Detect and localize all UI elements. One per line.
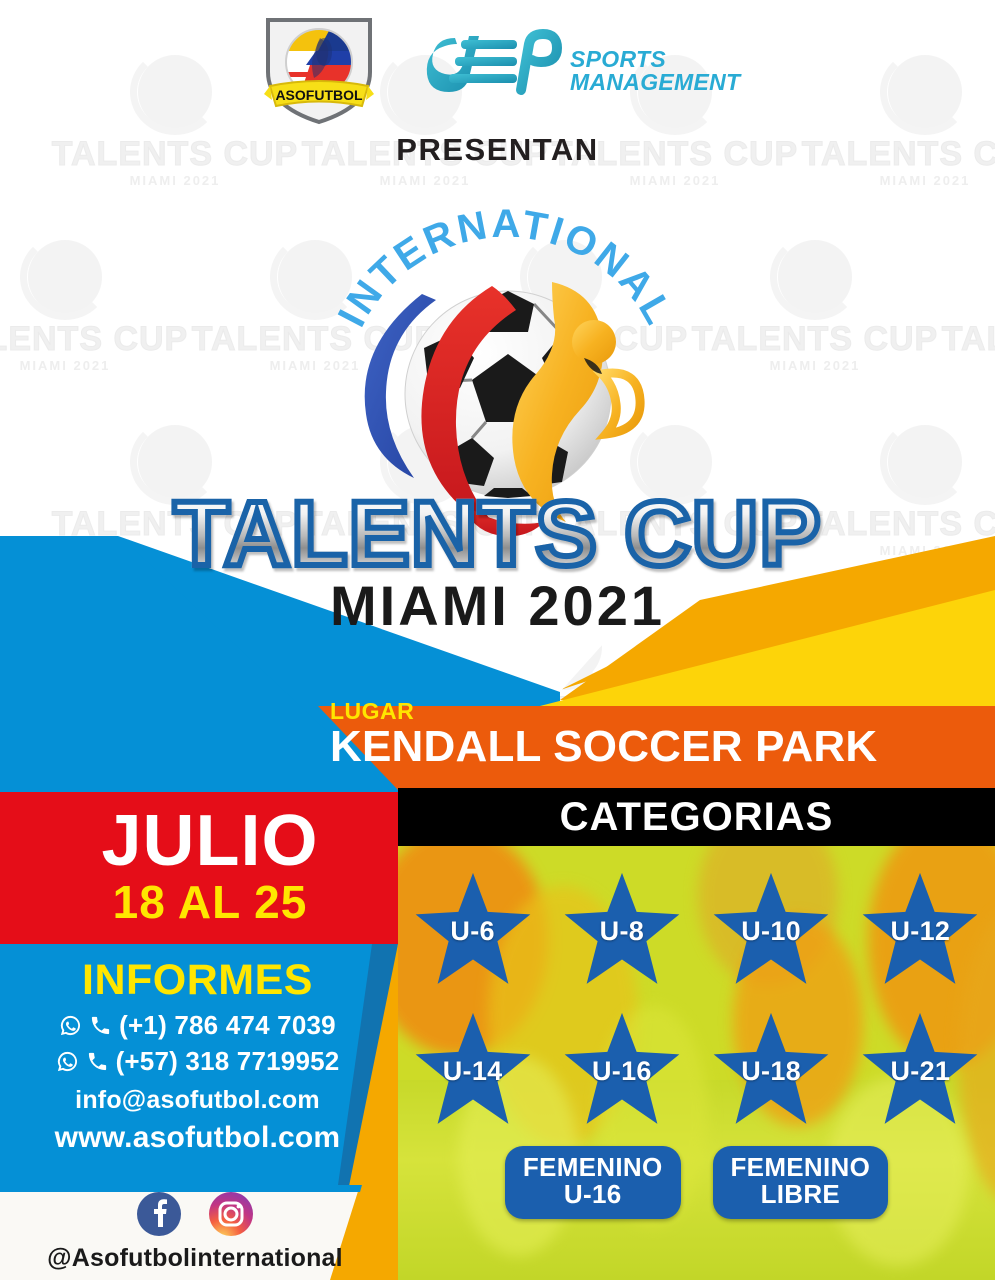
category-star-label: U-21	[891, 1056, 951, 1087]
category-star: U-6	[412, 870, 534, 988]
star-row-2: U-14U-16U-18U-21	[398, 1010, 995, 1128]
star-row-1: U-6U-8U-10U-12	[398, 870, 995, 988]
title-block: TALENTS CUP MIAMI 2021	[0, 492, 995, 638]
femenino-row: FEMENINOU-16FEMENINOLIBRE	[398, 1146, 995, 1219]
instagram-icon[interactable]	[207, 1190, 255, 1238]
social-block: @Asofutbolinternational	[0, 1190, 390, 1273]
femenino-category-pill: FEMENINOLIBRE	[713, 1146, 889, 1219]
venue-label: LUGAR	[330, 700, 995, 723]
category-star-label: U-14	[443, 1056, 503, 1087]
phone-number-2: (+57) 318 7719952	[116, 1046, 340, 1077]
category-star: U-18	[710, 1010, 832, 1128]
category-star-label: U-10	[741, 916, 801, 947]
category-star: U-12	[859, 870, 981, 988]
category-star-label: U-8	[600, 916, 644, 947]
category-star: U-14	[412, 1010, 534, 1128]
categories-heading: CATEGORIAS	[398, 788, 995, 846]
presentan-text: PRESENTAN	[0, 132, 995, 168]
category-star: U-10	[710, 870, 832, 988]
contact-block: INFORMES (+1) 786 474 7039 (+57) 318 771…	[0, 956, 395, 1155]
asofutbol-logo: ASOFUTBOL	[258, 14, 380, 126]
contact-title: INFORMES	[0, 956, 395, 1005]
phone-row-2[interactable]: (+57) 318 7719952	[0, 1046, 395, 1077]
poster: TALENTS CUPMIAMI 2021TALENTS CUPMIAMI 20…	[0, 0, 995, 1280]
femenino-line-2: U-16	[523, 1181, 663, 1208]
femenino-line-1: FEMENINO	[731, 1154, 871, 1181]
facebook-icon[interactable]	[135, 1190, 183, 1238]
categories-heading-text: CATEGORIAS	[560, 795, 834, 840]
category-star-label: U-18	[741, 1056, 801, 1087]
femenino-line-1: FEMENINO	[523, 1154, 663, 1181]
date-range: 18 AL 25	[113, 878, 308, 926]
category-star-label: U-16	[592, 1056, 652, 1087]
phone-number-1: (+1) 786 474 7039	[119, 1010, 336, 1041]
page-title: TALENTS CUP	[173, 492, 821, 577]
contact-website[interactable]: www.asofutbol.com	[0, 1121, 395, 1155]
social-handle: @Asofutbolinternational	[0, 1244, 390, 1273]
femenino-category-pill: FEMENINOU-16	[505, 1146, 681, 1219]
jep-sports-logo	[425, 24, 565, 96]
date-block: JULIO 18 AL 25	[0, 792, 420, 942]
categories-grid: U-6U-8U-10U-12 U-14U-16U-18U-21 FEMENINO…	[398, 846, 995, 1280]
phone-icon	[86, 1050, 109, 1073]
category-star-label: U-6	[450, 916, 494, 947]
sponsor-line-1: SPORTS	[570, 48, 770, 71]
category-star: U-8	[561, 870, 683, 988]
whatsapp-icon	[59, 1014, 82, 1037]
category-star-label: U-12	[891, 916, 951, 947]
header: ASOFUTBOL SPORTS MANAGEMENT PRESENTAN	[0, 0, 995, 185]
sponsor-line-2: MANAGEMENT	[570, 71, 770, 94]
whatsapp-icon	[56, 1050, 79, 1073]
phone-icon	[89, 1014, 112, 1037]
category-star: U-21	[859, 1010, 981, 1128]
venue-name: KENDALL SOCCER PARK	[330, 725, 995, 770]
femenino-line-2: LIBRE	[731, 1181, 871, 1208]
contact-email[interactable]: info@asofutbol.com	[0, 1086, 395, 1115]
date-month: JULIO	[101, 807, 318, 876]
svg-text:ASOFUTBOL: ASOFUTBOL	[275, 87, 363, 103]
sponsor-name: SPORTS MANAGEMENT	[570, 48, 770, 95]
phone-row-1[interactable]: (+1) 786 474 7039	[0, 1010, 395, 1041]
category-star: U-16	[561, 1010, 683, 1128]
venue-block: LUGAR KENDALL SOCCER PARK	[330, 700, 995, 786]
